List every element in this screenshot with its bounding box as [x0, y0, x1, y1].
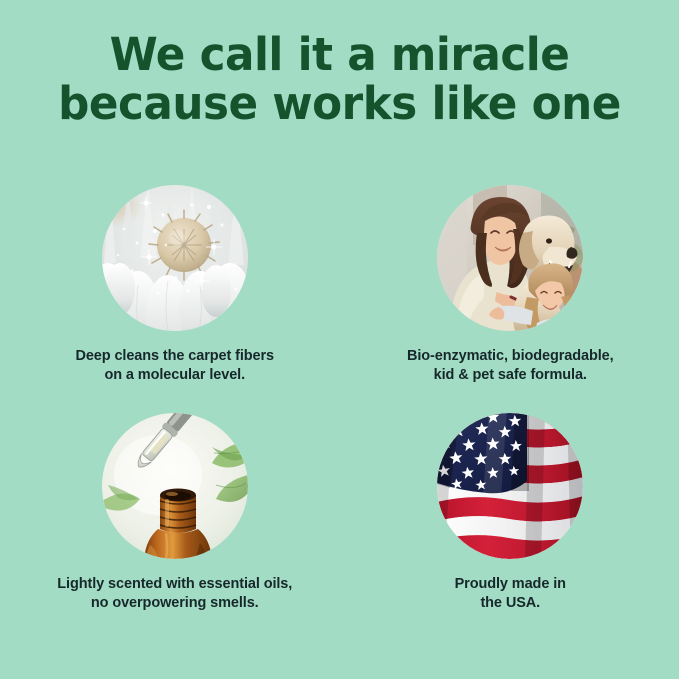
- feature-made-in-usa: Proudly made in the USA.: [340, 413, 679, 613]
- benefits-poster: We call it a miracle because works like …: [0, 0, 679, 679]
- feature-caption: Deep cleans the carpet fibers on a molec…: [75, 347, 274, 385]
- headline-line-2: because works like one: [10, 79, 669, 128]
- american-flag-image: [437, 413, 583, 559]
- feature-kid-pet-safe: Bio-enzymatic, biodegradable, kid & pet …: [340, 185, 679, 385]
- essential-oil-dropper-image: [102, 413, 248, 559]
- feature-grid: Deep cleans the carpet fibers on a molec…: [0, 185, 679, 613]
- feature-deep-clean: Deep cleans the carpet fibers on a molec…: [0, 185, 340, 385]
- feature-caption: Bio-enzymatic, biodegradable, kid & pet …: [407, 347, 614, 385]
- feature-caption: Proudly made in the USA.: [455, 575, 566, 613]
- feature-caption: Lightly scented with essential oils, no …: [57, 575, 292, 613]
- feature-essential-oils: Lightly scented with essential oils, no …: [0, 413, 340, 613]
- page-title: We call it a miracle because works like …: [10, 30, 669, 128]
- carpet-fibers-macro-image: [102, 185, 248, 331]
- headline-line-1: We call it a miracle: [10, 30, 669, 79]
- family-with-dog-image: [437, 185, 583, 331]
